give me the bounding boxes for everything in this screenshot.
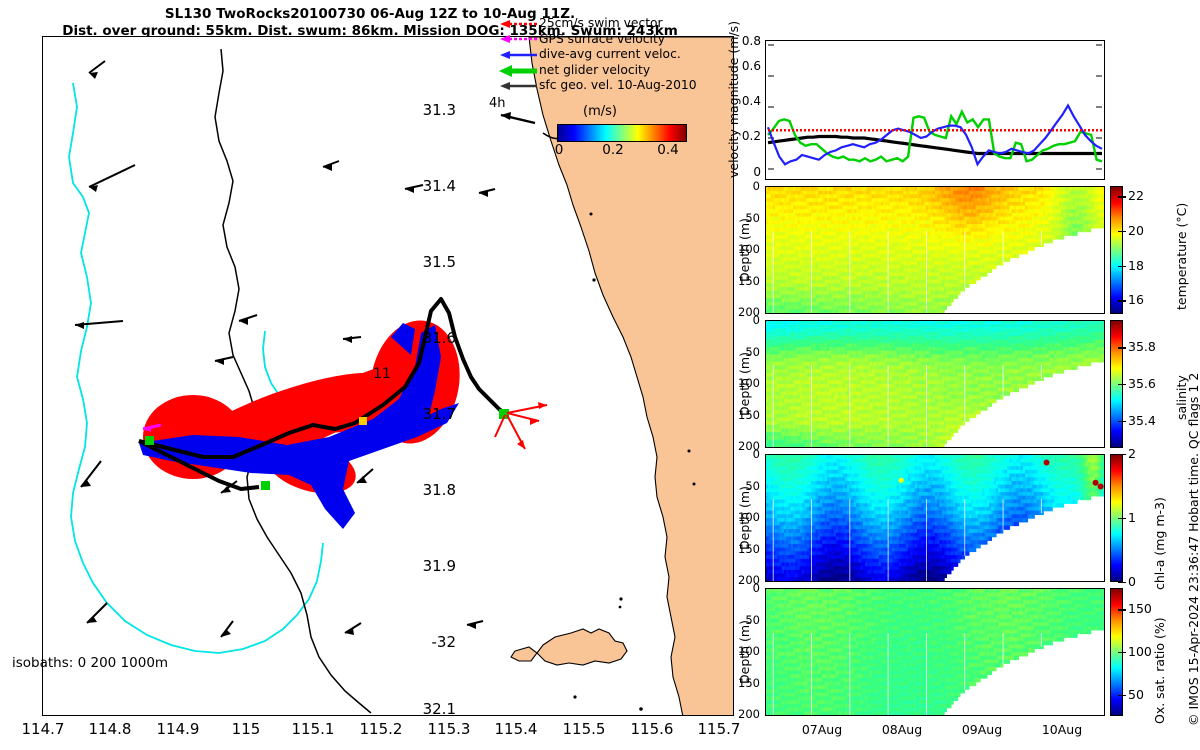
map-ytick-8: 32.1: [396, 700, 456, 718]
oxygen-colorbar-tickmark-0: [1118, 695, 1126, 696]
oxygen-colorbar-tickmark-1: [1118, 652, 1126, 653]
chl-a-depth-tick-0: 0: [726, 447, 760, 461]
map-xtick-1: 114.8: [75, 720, 145, 738]
map-xtick-0: 114.7: [8, 720, 78, 738]
velocity-ytick-4: 0.8: [731, 34, 761, 48]
gps-velocity-icon: [497, 32, 539, 46]
chl-a-colorbar-tick-1: 1: [1128, 510, 1136, 525]
islet-dot: [619, 606, 622, 609]
time-tick-0: 07Aug: [792, 722, 852, 737]
temperature-colorbar-tickmark-3: [1118, 196, 1126, 197]
oxygen-depth-tick-3: 150: [726, 676, 760, 690]
oxygen-section-graphic: [766, 589, 1104, 715]
temperature-colorbar-tick-2: 20: [1128, 223, 1144, 238]
velocity-ytick-2: 0.4: [731, 94, 761, 108]
legend-item-sfc-geo-velocity: sfc geo. vel. 10-Aug-2010: [497, 78, 683, 94]
map-xtick-3: 115: [211, 720, 281, 738]
island-polygon-small: [511, 647, 537, 661]
map-ytick-0: 31.3: [396, 101, 456, 119]
oxygen-depth-tick-4: 200: [726, 707, 760, 721]
oxygen-depth-tick-0: 0: [726, 581, 760, 595]
oxygen-colorbar-tickmark-2: [1118, 609, 1126, 610]
time-tick-2: 09Aug: [952, 722, 1012, 737]
temperature-colorbar-tickmark-2: [1118, 231, 1126, 232]
temperature-colorbar: [1110, 186, 1123, 314]
chl-a-depth-tick-3: 150: [726, 542, 760, 556]
temperature-depth-tick-1: 50: [726, 211, 760, 225]
salinity-section-panel[interactable]: [765, 320, 1105, 448]
map-colorbar-title: (m/s): [515, 104, 685, 119]
legend-label-swim-vector: 25cm/s swim vector: [539, 16, 663, 32]
map-ytick-5: 31.8: [396, 481, 456, 499]
islet-dot: [590, 213, 593, 216]
legend-item-gps-surface-velocity: GPS surface velocity: [497, 32, 683, 48]
map-xtick-2: 114.9: [143, 720, 213, 738]
temperature-section-graphic: [766, 187, 1104, 313]
islet-dot: [573, 695, 576, 698]
copyright-notice: © IMOS 15-Apr-2024 23:36:47 Hobart time.…: [1186, 373, 1200, 726]
isobath-1000m-branch: [263, 331, 279, 395]
chla-colorbar-name: chl-a (mg m-3): [1152, 497, 1167, 590]
map-colorbar: [557, 124, 687, 142]
salinity-colorbar-tickmark-1: [1118, 384, 1126, 385]
salinity-section-graphic: [766, 321, 1104, 447]
oxygen-colorbar-tick-1: 100: [1128, 644, 1152, 659]
map-ytick-7: -32: [396, 633, 456, 651]
oxygen-colorbar-name: Ox. sat. ratio (%): [1152, 617, 1167, 724]
salinity-depth-tick-1: 50: [726, 345, 760, 359]
chl-a-depth-tick-1: 50: [726, 479, 760, 493]
map-xtick-5: 115.2: [346, 720, 416, 738]
waypoint-label-11: 11: [373, 366, 391, 382]
legend-item-swim-vector: 25cm/s swim vector: [497, 16, 683, 32]
velocity-plot-graphic: [766, 41, 1104, 179]
sfc-geo-velocity-icon: [497, 79, 539, 93]
salinity-colorbar-tick-2: 35.8: [1128, 339, 1156, 354]
salinity-depth-tick-0: 0: [726, 313, 760, 327]
map-colorbar-tick-2: 0.4: [648, 142, 688, 158]
temperature-colorbar-name: temperature (°C): [1174, 203, 1189, 310]
scale-label-4h: 4h: [489, 96, 506, 111]
temperature-section-panel[interactable]: [765, 186, 1105, 314]
legend-label-sfc-geo-velocity: sfc geo. vel. 10-Aug-2010: [539, 78, 697, 94]
islet-dot: [619, 597, 622, 600]
isobath-1000m: [69, 83, 323, 653]
map-colorbar-tick-1: 0.2: [593, 142, 633, 158]
salinity-colorbar-tick-1: 35.6: [1128, 376, 1156, 391]
islet-dot: [688, 450, 691, 453]
legend-item-net-glider-velocity: net glider velocity: [497, 63, 683, 79]
island-polygon: [537, 629, 627, 665]
map-legend: 25cm/s swim vector GPS surface velocity …: [497, 16, 683, 94]
map-ytick-6: 31.9: [396, 557, 456, 575]
legend-item-dive-avg-current: dive-avg current veloc.: [497, 47, 683, 63]
velocity-ytick-0: 0: [731, 165, 761, 179]
oxygen-depth-tick-1: 50: [726, 613, 760, 627]
map-xtick-6: 115.3: [414, 720, 484, 738]
oxygen-colorbar-tick-0: 50: [1128, 687, 1144, 702]
temperature-colorbar-tick-1: 18: [1128, 258, 1144, 273]
temperature-depth-tick-0: 0: [726, 179, 760, 193]
oxygen-colorbar-tick-2: 150: [1128, 601, 1152, 616]
temperature-depth-tick-3: 150: [726, 274, 760, 288]
legend-label-dive-avg-current: dive-avg current veloc.: [539, 47, 681, 63]
map-xtick-8: 115.5: [549, 720, 619, 738]
oxygen-section-panel[interactable]: [765, 588, 1105, 716]
chl-a-depth-tick-2: 100: [726, 510, 760, 524]
velocity-ytick-1: 0.2: [731, 129, 761, 143]
chla-section-panel[interactable]: [765, 454, 1105, 582]
islet-dot: [592, 278, 595, 281]
map-xtick-10: 115.7: [684, 720, 754, 738]
chla-section-graphic: [766, 455, 1104, 581]
net-glider-velocity-icon: [497, 64, 539, 78]
salinity-colorbar-tick-0: 35.4: [1128, 413, 1156, 428]
map-xtick-7: 115.4: [481, 720, 551, 738]
isobaths-label: isobaths: 0 200 1000m: [12, 655, 168, 671]
map-xtick-9: 115.6: [617, 720, 687, 738]
map-ytick-2: 31.5: [396, 253, 456, 271]
salinity-colorbar-tickmark-2: [1118, 347, 1126, 348]
salinity-depth-tick-2: 100: [726, 376, 760, 390]
time-tick-3: 10Aug: [1032, 722, 1092, 737]
velocity-ytick-3: 0.6: [731, 59, 761, 73]
salinity-colorbar-tickmark-0: [1118, 421, 1126, 422]
temperature-colorbar-tick-0: 16: [1128, 292, 1144, 307]
temperature-colorbar-tickmark-1: [1118, 266, 1126, 267]
temperature-colorbar-tick-3: 22: [1128, 188, 1144, 203]
salinity-depth-tick-3: 150: [726, 408, 760, 422]
chl-a-colorbar-tickmark-1: [1118, 518, 1126, 519]
swim-vector-icon: [497, 17, 539, 31]
islet-dot: [693, 483, 696, 486]
map-xtick-4: 115.1: [278, 720, 348, 738]
temperature-colorbar-tickmark-0: [1118, 300, 1126, 301]
map-colorbar-tick-0: 0: [539, 142, 579, 158]
chl-a-colorbar-tick-2: 2: [1128, 446, 1136, 461]
chl-a-colorbar-tickmark-0: [1118, 582, 1126, 583]
map-ytick-3: 31.6: [396, 329, 456, 347]
map-ytick-4: 31.7: [396, 405, 456, 423]
legend-label-net-glider-velocity: net glider velocity: [539, 63, 650, 79]
velocity-timeseries-panel[interactable]: [765, 40, 1105, 180]
chl-a-colorbar-tickmark-2: [1118, 454, 1126, 455]
chl-a-colorbar-tick-0: 0: [1128, 574, 1136, 589]
legend-label-gps-surface-velocity: GPS surface velocity: [539, 32, 665, 48]
dive-avg-current-icon: [497, 48, 539, 62]
islet-dot: [639, 707, 643, 711]
map-ytick-1: 31.4: [396, 177, 456, 195]
oxygen-depth-tick-2: 100: [726, 644, 760, 658]
temperature-depth-tick-2: 100: [726, 242, 760, 256]
time-tick-1: 08Aug: [872, 722, 932, 737]
